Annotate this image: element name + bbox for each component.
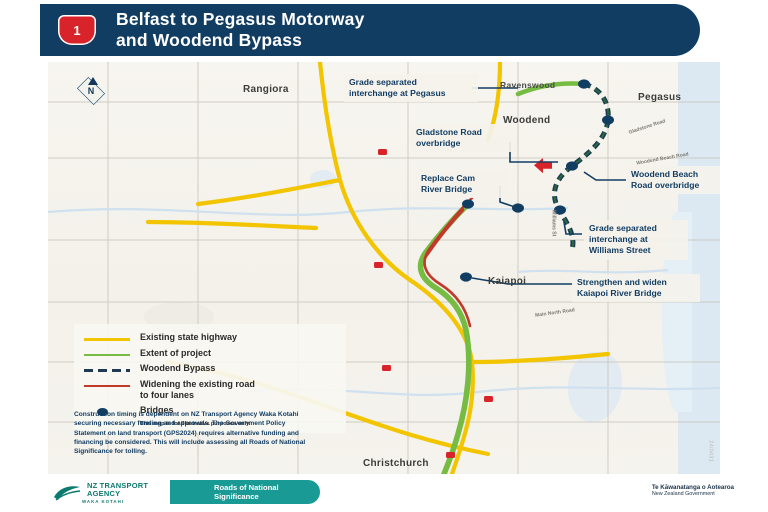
page-title-line2: and Woodend Bypass bbox=[116, 30, 365, 51]
callout-kaiapoi-river-bridge[interactable]: Strengthen and widen Kaiapoi River Bridg… bbox=[572, 274, 700, 302]
nzta-koru-icon bbox=[52, 483, 82, 503]
callout-williams-street-interchange[interactable]: Grade separated interchange at Williams … bbox=[584, 220, 688, 260]
rons-line2: Significance bbox=[214, 492, 259, 501]
callout-cam-river-bridge[interactable]: Replace Cam River Bridge bbox=[416, 170, 508, 198]
legend-label-existing-highway: Existing state highway bbox=[140, 332, 237, 344]
route-number: 1 bbox=[73, 23, 80, 38]
place-rangiora: Rangiora bbox=[243, 84, 289, 95]
document-code: 24/0431 bbox=[708, 440, 714, 462]
legend-swatch-dash-icon bbox=[84, 365, 130, 375]
page-title-line1: Belfast to Pegasus Motorway bbox=[116, 9, 365, 30]
place-kaiapoi: Kaiapoi bbox=[488, 276, 526, 287]
legend-item-project-extent: Extent of project bbox=[84, 348, 336, 360]
govt-line1: Te Kāwanatanga o Aotearoa bbox=[652, 484, 734, 491]
nz-government-logo: Te Kāwanatanga o Aotearoa New Zealand Go… bbox=[652, 484, 734, 497]
rons-line1: Roads of National bbox=[214, 483, 279, 492]
construction-funding-note: Construction timing is dependent on NZ T… bbox=[74, 410, 318, 457]
legend-swatch-line-icon bbox=[84, 334, 130, 344]
infographic-page: 1 Belfast to Pegasus Motorway and Wooden… bbox=[0, 0, 768, 512]
nzta-name-sub: WAKA KOTAHI bbox=[82, 499, 148, 504]
legend-item-woodend-bypass: Woodend Bypass bbox=[84, 363, 336, 375]
govt-line2: New Zealand Government bbox=[652, 491, 734, 497]
page-title: Belfast to Pegasus Motorway and Woodend … bbox=[116, 9, 365, 52]
nzta-wordmark: NZ TRANSPORT AGENCY WAKA KOTAHI bbox=[82, 482, 148, 504]
north-arrow-label: N bbox=[72, 78, 110, 104]
callout-gladstone-overbridge[interactable]: Gladstone Road overbridge bbox=[411, 124, 517, 152]
legend-swatch-line-icon bbox=[84, 350, 130, 360]
map-canvas[interactable]: N Rangiora Ravenswood Pegasus Woodend Ka… bbox=[48, 62, 720, 474]
road-label-williams-st: Williams St bbox=[550, 210, 556, 237]
callout-pegasus-interchange[interactable]: Grade separated interchange at Pegasus bbox=[344, 74, 478, 102]
rons-label: Roads of National Significance bbox=[192, 483, 279, 502]
legend-label-project-extent: Extent of project bbox=[140, 348, 211, 360]
nzta-logo: NZ TRANSPORT AGENCY WAKA KOTAHI bbox=[52, 482, 148, 504]
place-pegasus: Pegasus bbox=[638, 92, 681, 103]
nzta-name-line2: AGENCY bbox=[87, 490, 148, 498]
page-footer: NZ TRANSPORT AGENCY WAKA KOTAHI Roads of… bbox=[0, 476, 768, 512]
rons-banner: Roads of National Significance bbox=[170, 480, 320, 504]
legend-label-woodend-bypass: Woodend Bypass bbox=[140, 363, 215, 375]
legend-item-existing-highway: Existing state highway bbox=[84, 332, 336, 344]
callout-woodend-beach-overbridge[interactable]: Woodend Beach Road overbridge bbox=[626, 166, 720, 194]
north-arrow-icon: N bbox=[72, 78, 110, 104]
legend-swatch-line-icon bbox=[84, 381, 130, 391]
page-header: 1 Belfast to Pegasus Motorway and Wooden… bbox=[40, 4, 700, 56]
place-christchurch: Christchurch bbox=[363, 458, 429, 469]
place-ravenswood: Ravenswood bbox=[500, 80, 555, 90]
legend-item-widening: Widening the existing road to four lanes bbox=[84, 379, 336, 402]
legend-label-widening: Widening the existing road to four lanes bbox=[140, 379, 255, 402]
route-shield-icon: 1 bbox=[58, 15, 96, 45]
